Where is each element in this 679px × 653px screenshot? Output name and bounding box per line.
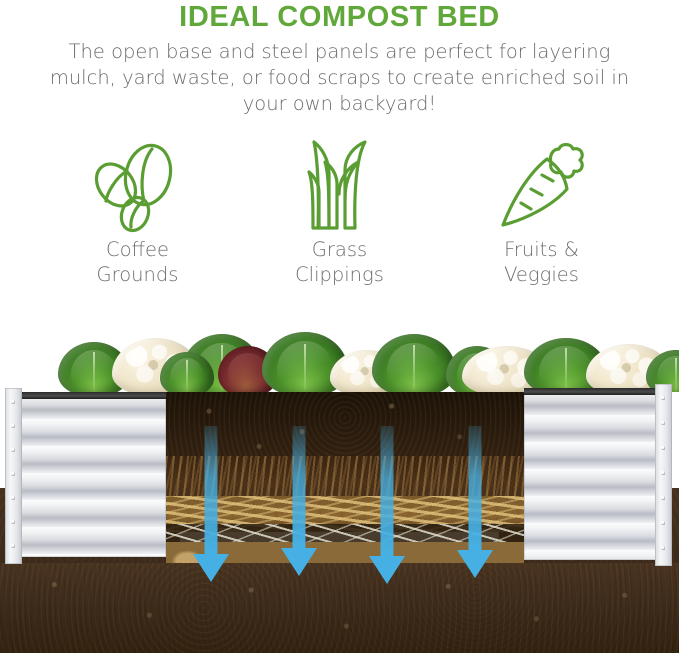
drainage-arrow (281, 426, 317, 586)
panel-top-rail (524, 388, 658, 395)
coffee-beans-icon (37, 137, 239, 237)
rivet (11, 424, 15, 428)
drainage-arrow (369, 426, 405, 586)
corner-post-left (5, 388, 22, 564)
corner-post-right (655, 384, 672, 566)
arrow-head (369, 556, 405, 584)
rivet (661, 546, 665, 550)
garden-bed-photo (0, 330, 679, 653)
steel-panel-right (524, 388, 658, 560)
arrow-shaft (205, 426, 218, 554)
rivet (11, 448, 15, 452)
rivet (661, 396, 665, 400)
rivet (661, 446, 665, 450)
arrow-shaft (469, 426, 482, 550)
arrow-head (193, 554, 229, 582)
drainage-arrow (457, 426, 493, 586)
rivet (661, 471, 665, 475)
rivet (11, 472, 15, 476)
feature-label: Grass Clippings (239, 237, 441, 287)
arrow-shaft (293, 426, 306, 548)
feature-label: Coffee Grounds (37, 237, 239, 287)
rivet (661, 496, 665, 500)
page-title: IDEAL COMPOST BED (0, 2, 679, 32)
native-ground-soil (0, 563, 679, 653)
rivet (11, 520, 15, 524)
feature-label: Fruits & Veggies (441, 237, 643, 287)
rivet (661, 521, 665, 525)
steel-panel-left (18, 392, 166, 557)
rivet (11, 496, 15, 500)
drainage-arrow (193, 426, 229, 586)
carrot-icon (441, 137, 643, 237)
panel-top-rail (18, 392, 166, 399)
feature-fruits-veggies: Fruits & Veggies (441, 137, 643, 287)
arrow-head (281, 548, 317, 576)
grass-blades-icon (239, 137, 441, 237)
arrow-head (457, 550, 493, 578)
feature-coffee-grounds: Coffee Grounds (37, 137, 239, 287)
infographic-page: IDEAL COMPOST BED The open base and stee… (0, 0, 679, 653)
plant-row (0, 330, 679, 392)
feature-grass-clippings: Grass Clippings (239, 137, 441, 287)
header: IDEAL COMPOST BED The open base and stee… (0, 0, 679, 117)
rivet (11, 400, 15, 404)
plant-cabbage (372, 334, 456, 392)
rivet (11, 544, 15, 548)
rivet (661, 421, 665, 425)
arrow-shaft (381, 426, 394, 556)
page-subtitle: The open base and steel panels are perfe… (0, 39, 679, 117)
feature-list: Coffee Grounds Grass Clippings (0, 137, 679, 287)
